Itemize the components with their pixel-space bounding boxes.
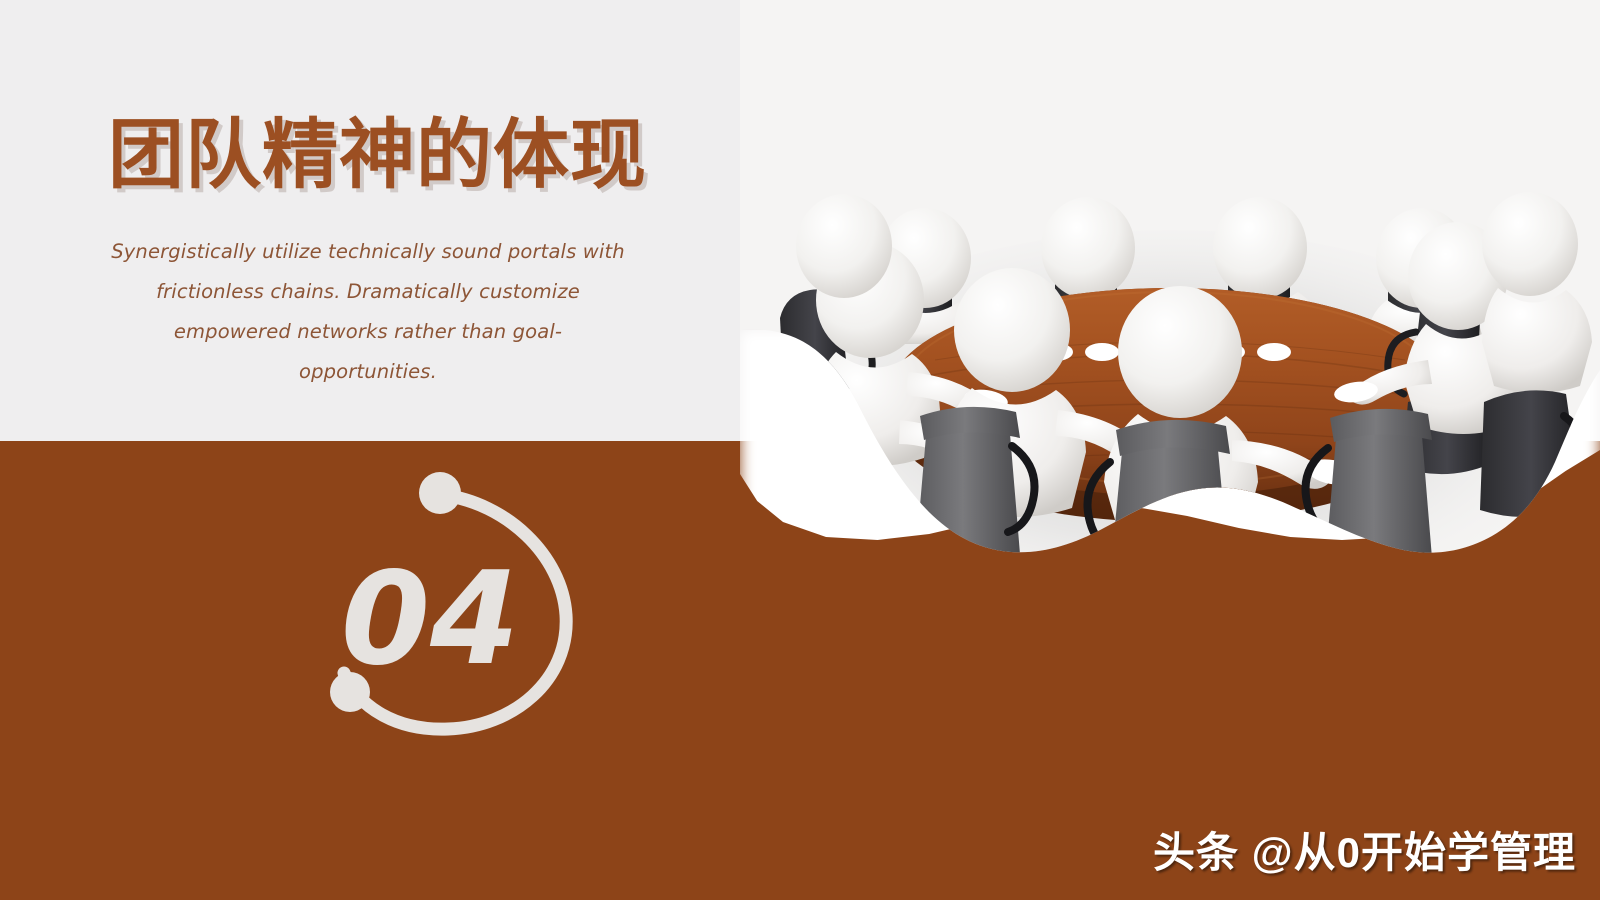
title-block: 团队精神的体现 Synergistically utilize technica… [0,118,760,392]
photo-3d-scene [740,0,1600,660]
arc-dot-top [419,472,461,514]
section-number: 04 [341,545,519,694]
page-title: 团队精神的体现 [0,118,760,194]
watermark: 头条 @从0开始学管理 [1153,819,1576,880]
presentation-slide: 团队精神的体现 Synergistically utilize technica… [0,0,1600,900]
slide-subtitle: Synergistically utilize technically soun… [0,194,718,392]
conference-photo [740,0,1600,660]
section-number-badge: 04 [300,455,600,735]
